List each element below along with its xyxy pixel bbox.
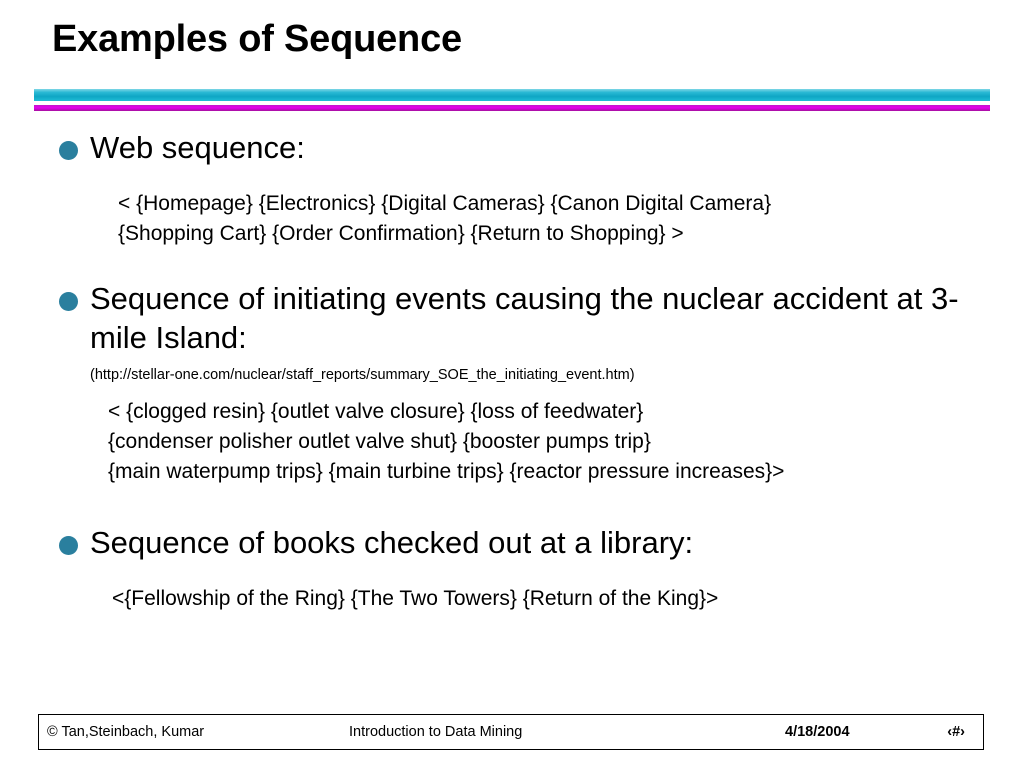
footer-course-title: Introduction to Data Mining <box>349 724 522 740</box>
bullet-item-library-sequence: Sequence of books checked out at a libra… <box>0 523 1024 562</box>
library-sequence-detail: <{Fellowship of the Ring} {The Two Tower… <box>0 584 1024 614</box>
web-sequence-detail: < {Homepage} {Electronics} {Digital Came… <box>0 189 1024 249</box>
title-divider <box>34 89 990 111</box>
page-title: Examples of Sequence <box>52 18 462 61</box>
bullet-item-web-sequence: Web sequence: <box>0 128 1024 167</box>
footer-copyright: © Tan,Steinbach, Kumar <box>47 724 204 740</box>
bullet-label: Web sequence: <box>90 128 1024 167</box>
bullet-item-nuclear-sequence: Sequence of initiating events causing th… <box>0 279 1024 357</box>
footer-date: 4/18/2004 <box>785 724 850 740</box>
nuclear-sequence-detail: < {clogged resin} {outlet valve closure}… <box>0 397 1024 487</box>
slide-footer: © Tan,Steinbach, Kumar Introduction to D… <box>38 714 984 750</box>
bullet-label: Sequence of books checked out at a libra… <box>90 523 1024 562</box>
bullet-dot-icon <box>59 141 78 160</box>
nuclear-source-url: (http://stellar-one.com/nuclear/staff_re… <box>0 365 1024 385</box>
spacer <box>0 167 1024 189</box>
slide-body: Web sequence: < {Homepage} {Electronics}… <box>0 128 1024 614</box>
bullet-dot-icon <box>59 292 78 311</box>
divider-bar-magenta <box>34 105 990 111</box>
bullet-label: Sequence of initiating events causing th… <box>90 279 1024 357</box>
footer-page-number: ‹#› <box>947 724 965 740</box>
spacer <box>0 487 1024 523</box>
bullet-dot-icon <box>59 536 78 555</box>
spacer <box>0 249 1024 279</box>
spacer <box>0 385 1024 397</box>
divider-bar-cyan <box>34 89 990 101</box>
spacer <box>0 357 1024 365</box>
spacer <box>0 562 1024 584</box>
